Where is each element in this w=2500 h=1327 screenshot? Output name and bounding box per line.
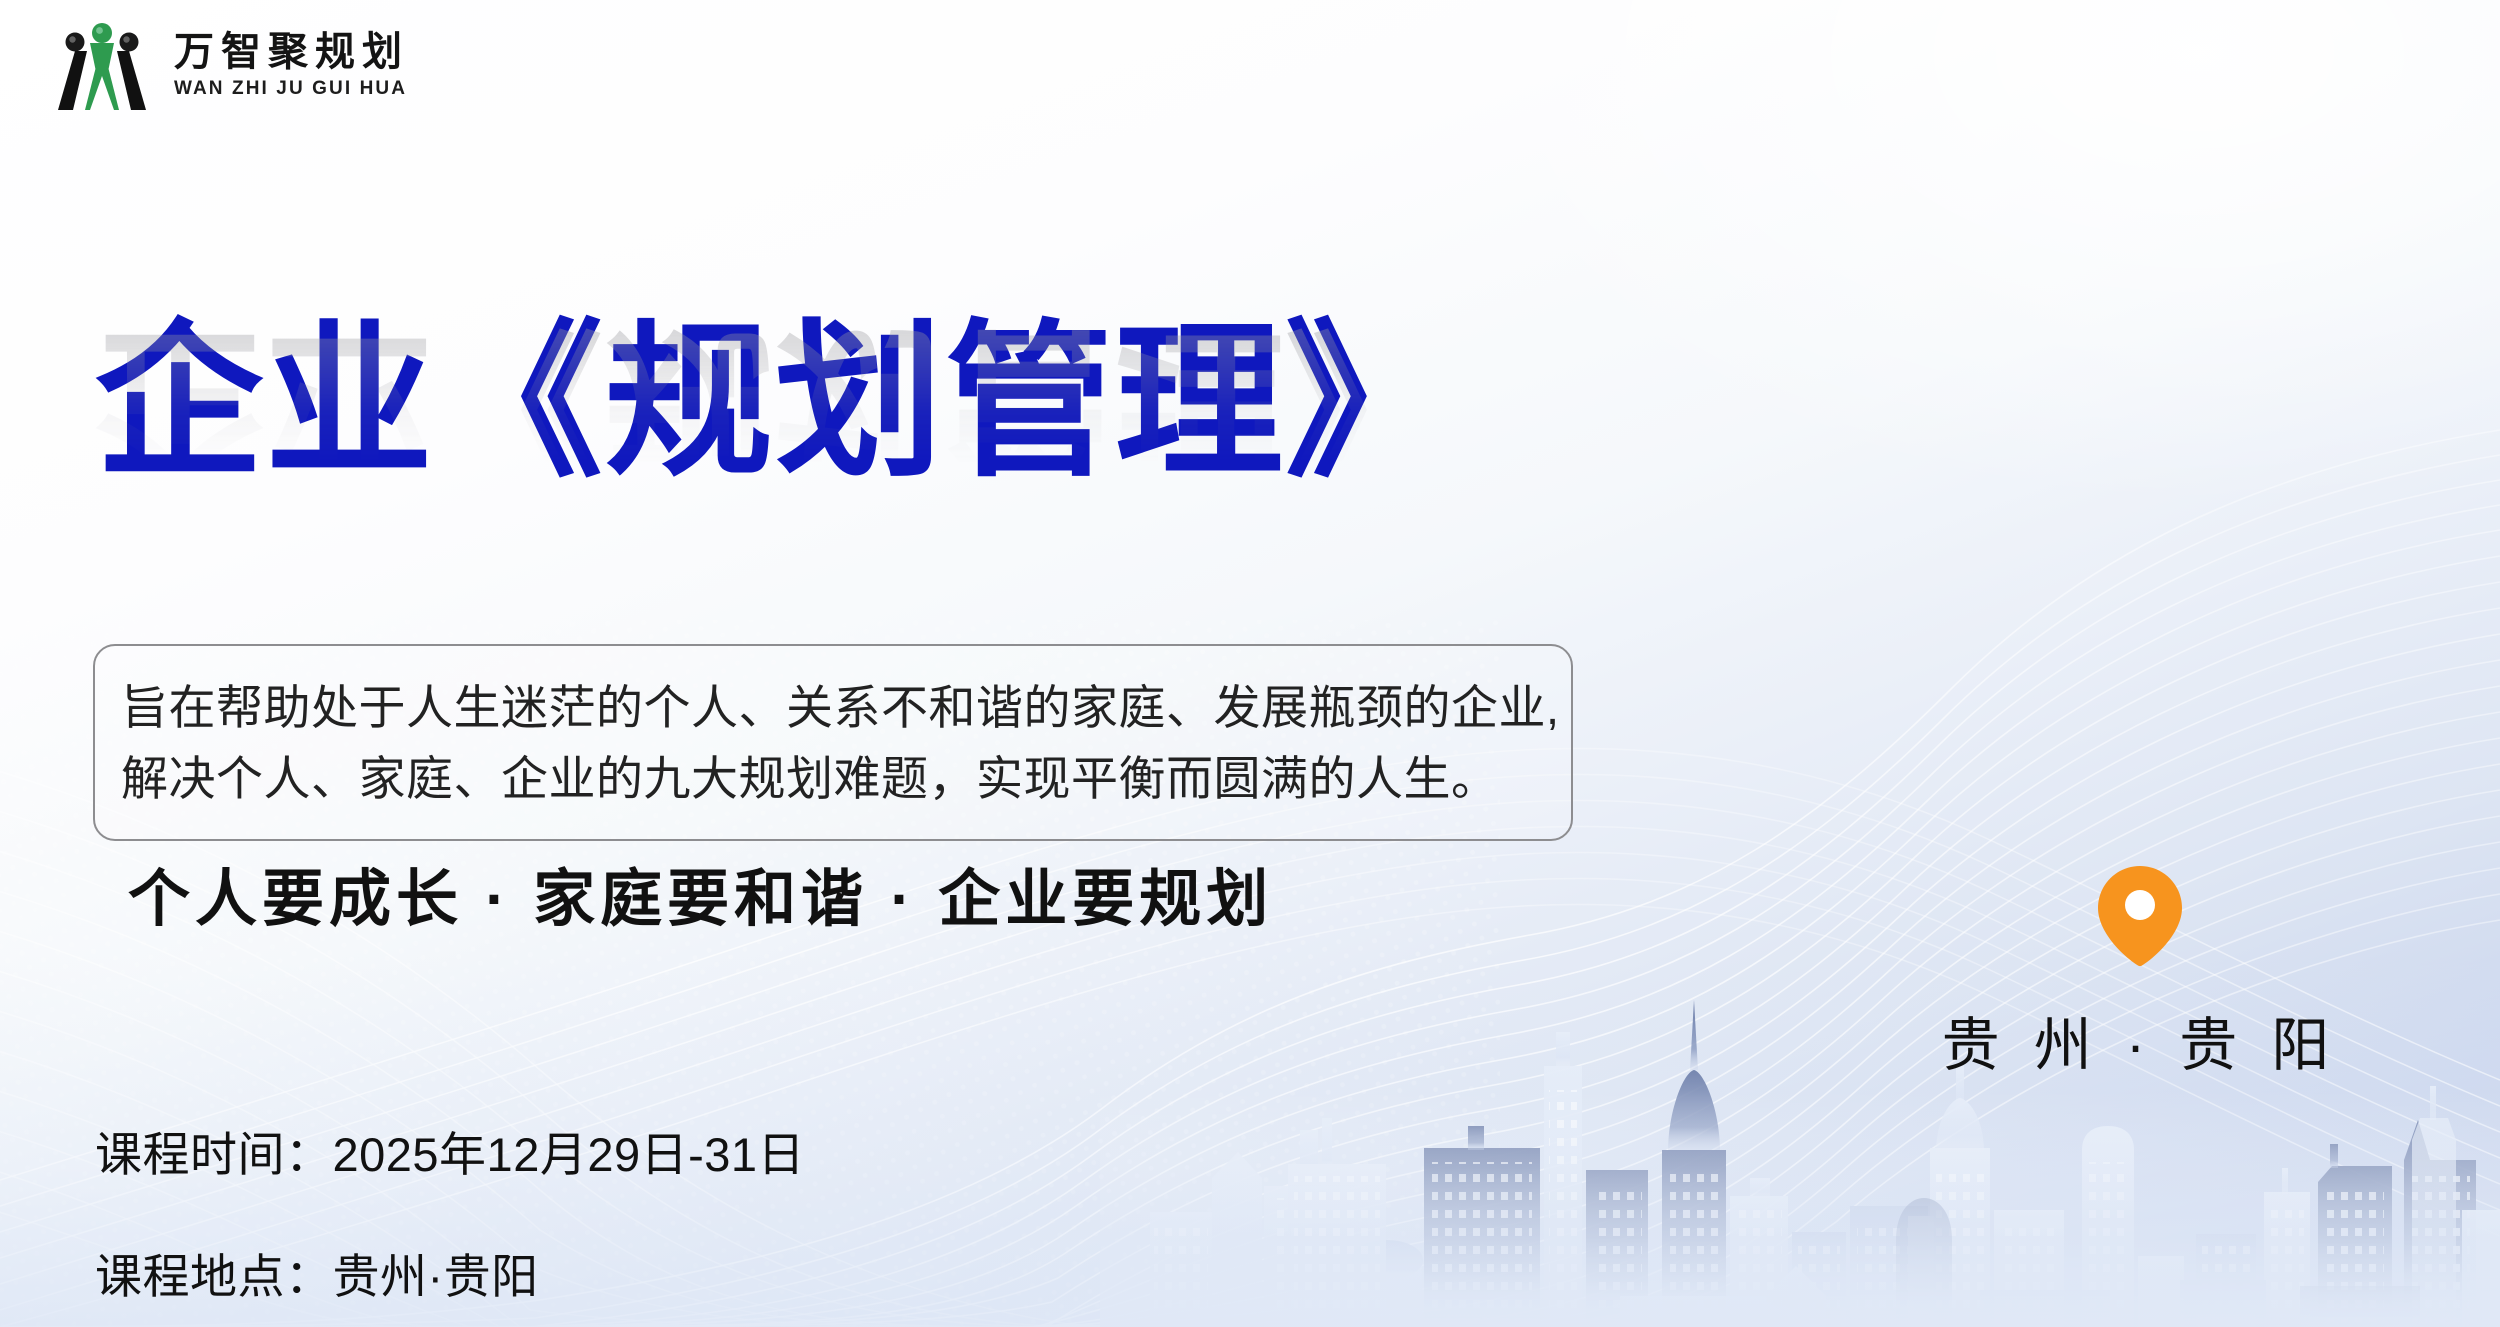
course-info: 课程时间：2025年12月29日-31日 课程地点：贵州·贵阳 [95,1116,805,1307]
course-location: 课程地点：贵州·贵阳 [95,1238,805,1307]
description-line-1: 旨在帮助处于人生迷茫的个人、关系不和谐的家庭、发展瓶颈的企业, [121,672,1545,743]
promo-banner: 万智聚规划 WAN ZHI JU GUI HUA 企业《规划管理》 企业《规划管… [0,0,2500,1327]
title-reflection: 企业《规划管理》 [95,320,1655,488]
course-time: 课程时间：2025年12月29日-31日 [95,1116,805,1185]
location-label: 贵 州 · 贵 阳 [1942,998,2339,1082]
map-pin-icon [2094,864,2186,968]
brand-name-cn: 万智聚规划 [174,30,409,75]
description-line-2: 解决个人、家庭、企业的九大规划难题，实现平衡而圆满的人生。 [121,743,1545,814]
three-people-logo-icon [48,18,156,112]
brand-name-pinyin: WAN ZHI JU GUI HUA [174,78,409,101]
description-box: 旨在帮助处于人生迷茫的个人、关系不和谐的家庭、发展瓶颈的企业, 解决个人、家庭、… [93,644,1573,841]
brand-logo[interactable]: 万智聚规划 WAN ZHI JU GUI HUA [48,18,409,112]
tagline: 个人要成长 · 家庭要和谐 · 企业要规划 [128,848,1273,938]
hero-title-block: 企业《规划管理》 企业《规划管理》 [95,318,1655,656]
location-block: 贵 州 · 贵 阳 [1930,864,2350,1082]
